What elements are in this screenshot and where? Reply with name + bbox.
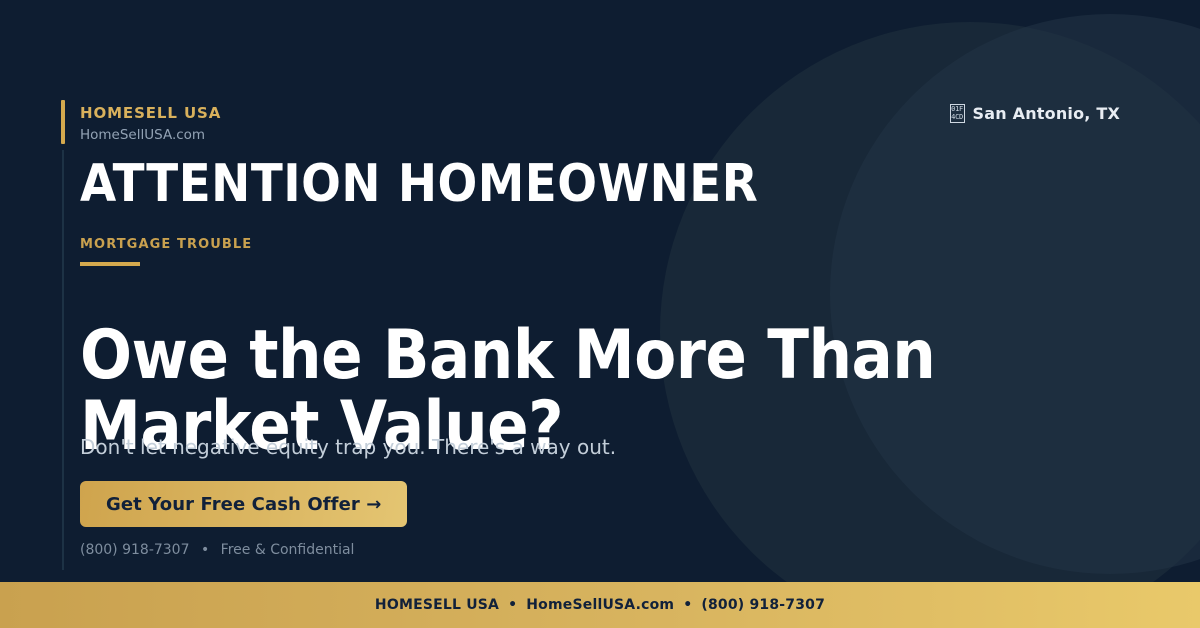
footer-bar: HOMESELL USA • HomeSellUSA.com • (800) 9… [0, 582, 1200, 628]
brand-block: HOMESELL USA HomeSellUSA.com [80, 104, 221, 143]
kicker-label: MORTGAGE TROUBLE [80, 237, 252, 253]
kicker-underline [80, 262, 140, 266]
location-label: San Antonio, TX [973, 104, 1120, 123]
left-rail-gold-accent [61, 100, 65, 144]
microcopy-separator: • [194, 542, 216, 558]
footer-phone[interactable]: (800) 918-7307 [701, 597, 825, 613]
footer-website[interactable]: HomeSellUSA.com [526, 597, 674, 613]
location-pin-icon: 01F 4CD [950, 104, 965, 123]
brand-name: HOMESELL USA [80, 104, 221, 122]
subheadline: Don't let negative equity trap you. Ther… [80, 434, 616, 460]
brand-website: HomeSellUSA.com [80, 127, 221, 143]
footer-separator-2: • [674, 597, 701, 613]
content-area: HOMESELL USA HomeSellUSA.com 01F 4CD San… [80, 0, 1120, 628]
attention-line: ATTENTION HOMEOWNER [80, 158, 758, 210]
confidential-note: Free & Confidential [221, 542, 355, 558]
location-pin-icon-codepoint-bottom: 4CD [951, 114, 963, 122]
contact-microcopy: (800) 918-7307 • Free & Confidential [80, 541, 354, 559]
ad-creative: HOMESELL USA HomeSellUSA.com 01F 4CD San… [0, 0, 1200, 628]
footer-brand: HOMESELL USA [375, 597, 499, 613]
phone-number[interactable]: (800) 918-7307 [80, 542, 190, 558]
location-badge: 01F 4CD San Antonio, TX [950, 104, 1120, 123]
left-rail-line [62, 150, 64, 570]
get-free-cash-offer-button[interactable]: Get Your Free Cash Offer → [80, 481, 407, 527]
footer-separator-1: • [499, 597, 526, 613]
